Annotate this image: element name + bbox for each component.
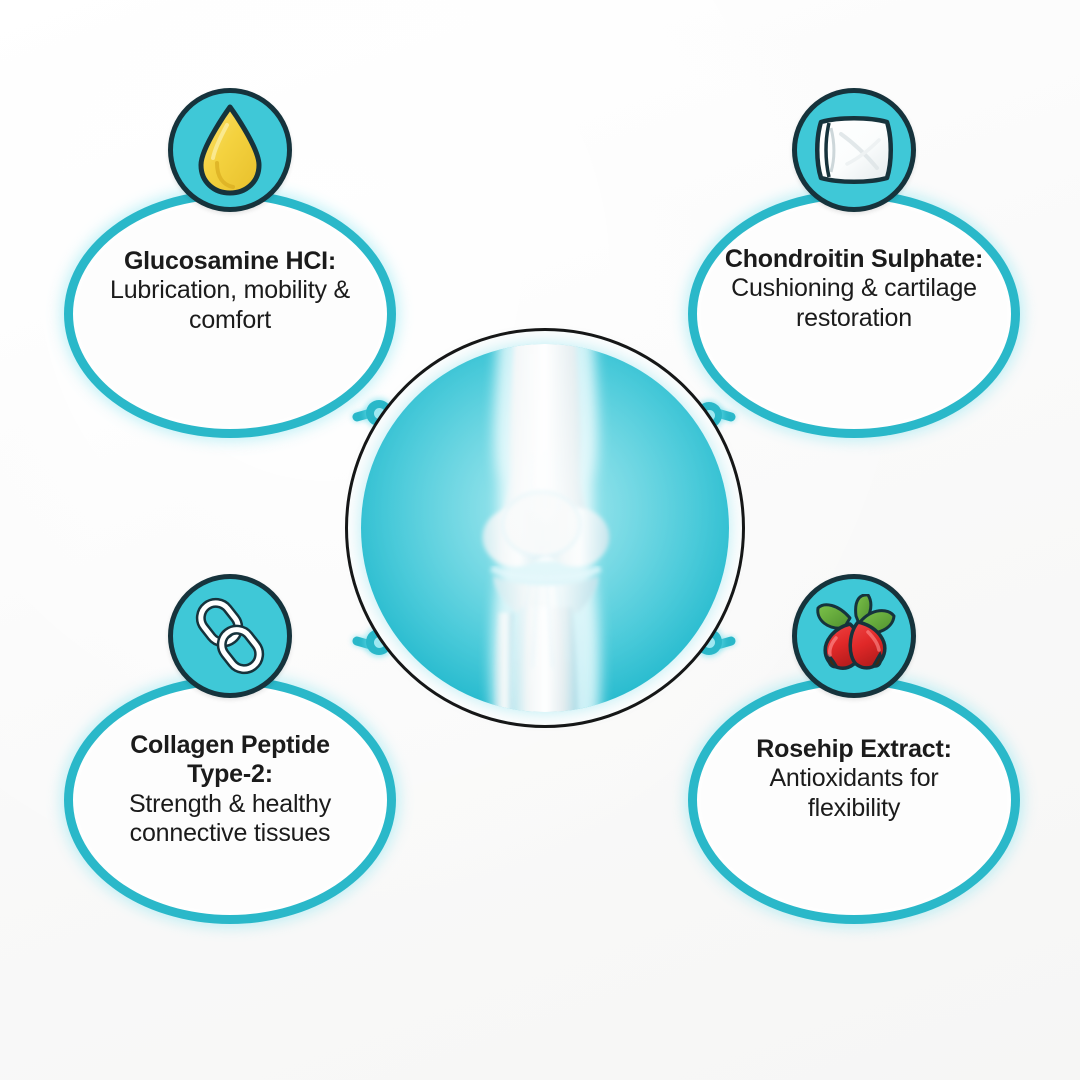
pillow-icon [792,88,916,212]
bubble-desc-glucosamine: Lubrication, mobility & comfort [110,276,350,333]
info-bubble-rosehip[interactable]: Rosehip Extract: Antioxidants for flexib… [688,676,1020,924]
chain-link-icon [168,574,292,698]
bubble-title-collagen: Collagen Peptide Type-2: [130,731,330,788]
bubble-text-glucosamine: Glucosamine HCI: Lubrication, mobility &… [98,247,362,335]
bubble-text-collagen: Collagen Peptide Type-2: Strength & heal… [98,731,362,848]
info-bubble-collagen[interactable]: Collagen Peptide Type-2: Strength & heal… [64,676,396,924]
info-bubble-chondroitin[interactable]: Chondroitin Sulphate: Cushioning & carti… [688,190,1020,438]
bubble-desc-collagen: Strength & healthy connective tissues [129,790,331,847]
central-joint-hub [345,328,745,728]
oil-droplet-icon [168,88,292,212]
infographic-canvas: Glucosamine HCI: Lubrication, mobility &… [0,0,1080,1080]
bubble-title-rosehip: Rosehip Extract: [756,735,951,763]
bubble-text-chondroitin: Chondroitin Sulphate: Cushioning & carti… [722,245,986,333]
bubble-desc-chondroitin: Cushioning & cartilage restoration [731,274,977,331]
bubble-title-chondroitin: Chondroitin Sulphate: [725,245,983,273]
knee-joint-xray-icon [361,344,729,712]
bubble-title-glucosamine: Glucosamine HCI: [124,247,336,275]
rosehip-berries-icon [792,574,916,698]
bubble-text-rosehip: Rosehip Extract: Antioxidants for flexib… [722,735,986,823]
info-bubble-glucosamine[interactable]: Glucosamine HCI: Lubrication, mobility &… [64,190,396,438]
bubble-desc-rosehip: Antioxidants for flexibility [769,764,938,821]
